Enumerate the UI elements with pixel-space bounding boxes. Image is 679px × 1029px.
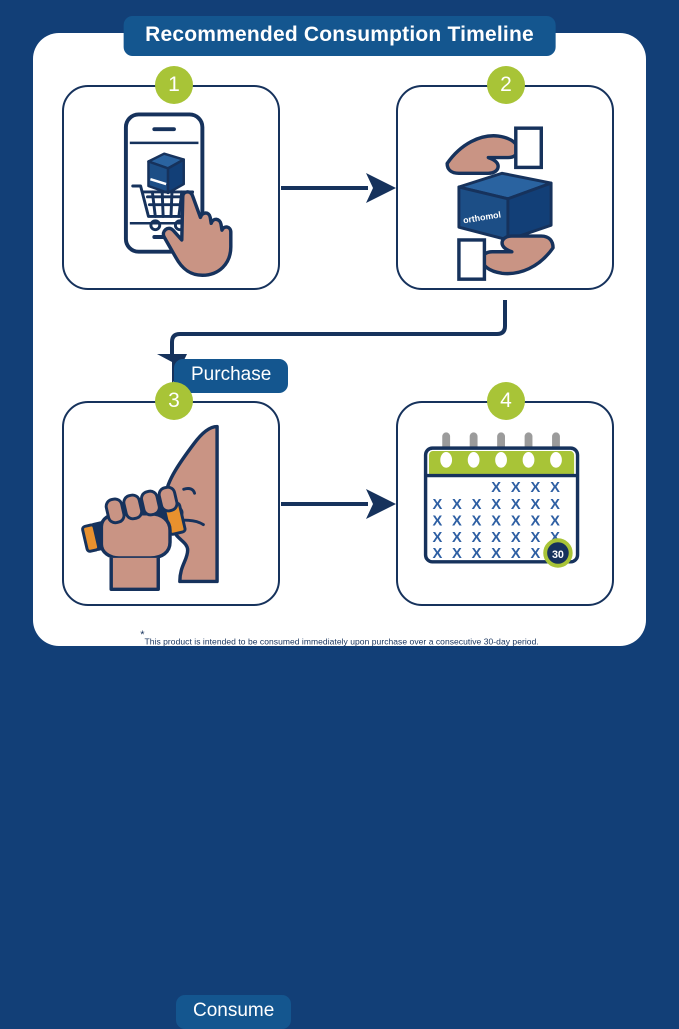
svg-text:X: X (472, 530, 482, 546)
arrow-step3-to-step4 (281, 489, 396, 519)
step-card-consume[interactable]: orthomol Consume (62, 401, 280, 606)
hand-top-icon (447, 128, 541, 173)
infographic-frame: Recommended Consumption Timeline (0, 0, 679, 679)
svg-text:X: X (491, 497, 501, 513)
svg-text:X: X (472, 497, 482, 513)
step-card-receive[interactable]: orthomol Receive (396, 85, 614, 290)
arrow-step1-to-step2 (281, 173, 396, 203)
hand-bottom-icon (459, 236, 553, 279)
step-badge-2: 2 (487, 66, 525, 104)
page-title-text: Recommended Consumption Timeline (145, 23, 534, 46)
step-badge-number: 4 (500, 389, 512, 413)
svg-text:X: X (432, 546, 442, 562)
svg-text:X: X (550, 480, 560, 496)
svg-text:X: X (432, 514, 442, 530)
svg-text:X: X (452, 530, 462, 546)
footnote: *This product is intended to be consumed… (0, 629, 679, 649)
calendar-icon: XX XX XX XX XX X XX XX XX X XX XX XX X X… (398, 403, 612, 604)
svg-text:X: X (511, 497, 521, 513)
step-card-purchase[interactable]: Purchase (62, 85, 280, 290)
svg-text:X: X (432, 497, 442, 513)
svg-text:X: X (452, 514, 462, 530)
step-badge-4: 4 (487, 382, 525, 420)
step-badge-number: 2 (500, 73, 512, 97)
step-badge-number: 3 (168, 389, 180, 413)
calendar-day-badge: 30 (545, 540, 570, 565)
hand-fist-icon (101, 486, 178, 589)
svg-text:X: X (530, 497, 540, 513)
svg-text:X: X (452, 546, 462, 562)
svg-text:X: X (511, 480, 521, 496)
svg-text:X: X (472, 514, 482, 530)
smartphone-shopping-cart-icon (64, 87, 278, 288)
page-title: Recommended Consumption Timeline (123, 16, 556, 56)
svg-text:X: X (511, 514, 521, 530)
step-label-consume: Consume (176, 995, 291, 1029)
svg-text:X: X (550, 497, 560, 513)
product-box-icon (148, 154, 183, 193)
svg-text:X: X (432, 530, 442, 546)
svg-text:X: X (491, 514, 501, 530)
svg-text:X: X (530, 514, 540, 530)
step-label-purchase: Purchase (174, 359, 288, 393)
svg-text:X: X (511, 530, 521, 546)
svg-text:X: X (511, 546, 521, 562)
step-badge-3: 3 (155, 382, 193, 420)
product-box-icon: orthomol (459, 173, 551, 240)
svg-text:X: X (550, 514, 560, 530)
svg-text:X: X (530, 546, 540, 562)
svg-text:X: X (491, 480, 501, 496)
step-label-text: Consume (193, 1000, 274, 1021)
person-drinking-vial-icon: orthomol (64, 403, 278, 604)
svg-text:X: X (530, 530, 540, 546)
footnote-text: This product is intended to be consumed … (144, 636, 538, 646)
step-label-text: Purchase (191, 364, 271, 385)
svg-text:X: X (491, 546, 501, 562)
svg-text:X: X (472, 546, 482, 562)
step-badge-1: 1 (155, 66, 193, 104)
svg-text:X: X (452, 497, 462, 513)
svg-text:X: X (491, 530, 501, 546)
step-card-daily[interactable]: XX XX XX XX XX X XX XX XX X XX XX XX X X… (396, 401, 614, 606)
calendar-day-number: 30 (552, 549, 564, 561)
step-badge-number: 1 (168, 73, 180, 97)
svg-text:X: X (530, 480, 540, 496)
hands-holding-package-icon: orthomol (398, 87, 612, 288)
